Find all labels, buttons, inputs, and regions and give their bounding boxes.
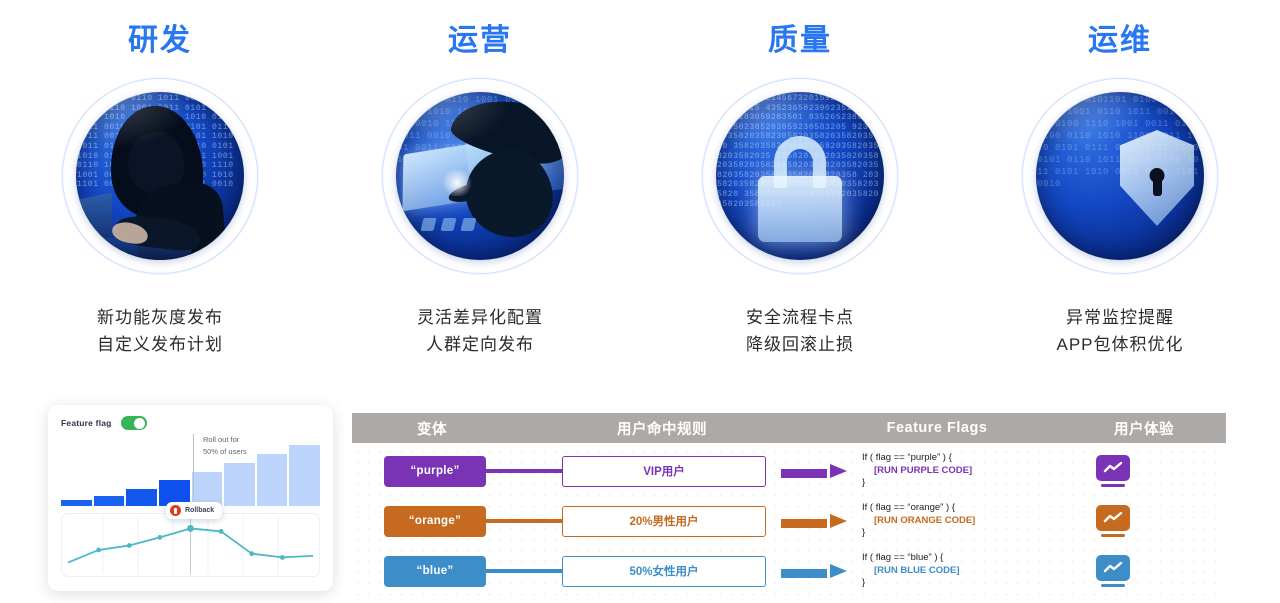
line-point <box>249 551 254 556</box>
line-chart-svg <box>62 514 319 576</box>
variant-chip[interactable]: “purple” <box>384 456 486 487</box>
rollback-icon <box>170 505 181 516</box>
experience-cell <box>1038 455 1188 487</box>
code-line-1: If ( flag == “purple” ) { <box>862 452 1038 465</box>
hand-touching-screen <box>396 92 564 260</box>
flags-table-header: 变体 用户命中规则 Feature Flags 用户体验 <box>352 413 1226 443</box>
feature-title: 运营 <box>448 26 512 56</box>
rollout-bar-chart: Roll out for 50% of users <box>61 434 320 506</box>
caption-line-1: 新功能灰度发布 <box>97 304 223 331</box>
feature-title: 质量 <box>768 26 832 56</box>
monitor-chart-icon <box>1096 455 1130 487</box>
line-point <box>187 525 194 532</box>
caption-line-1: 灵活差异化配置 <box>417 304 543 331</box>
rollout-note-line-2: 50% of users <box>203 446 247 458</box>
feature-column-quality: 质量 3205183502145673201592385612035893201… <box>640 0 960 390</box>
rollout-card: Feature flag Roll out for 50% of users R… <box>48 405 333 591</box>
column-header-experience: 用户体验 <box>1062 418 1226 439</box>
feature-image-devops: 1010110 0101101 01001 10110 0101 1001 01… <box>1022 78 1218 274</box>
feature-flag-label: Feature flag <box>61 418 112 428</box>
feature-image-quality: 32051835021456732015923856120358932015 4… <box>702 78 898 274</box>
rule-box[interactable]: VIP用户 <box>562 456 766 487</box>
rule-box[interactable]: 50%女性用户 <box>562 556 766 587</box>
rollout-bar <box>289 445 320 506</box>
line-point <box>157 535 162 540</box>
shield-shape <box>1120 130 1194 226</box>
code-snippet: If ( flag == “orange” ) {[RUN ORANGE COD… <box>862 502 1038 540</box>
column-header-variant: 变体 <box>352 418 512 439</box>
metric-line-chart: Rollback <box>61 513 320 577</box>
feature-caption: 灵活差异化配置 人群定向发布 <box>417 304 543 358</box>
monitor-chart-icon <box>1096 555 1130 587</box>
flow-arrow <box>766 567 862 576</box>
feature-column-rd: 研发 0101 1001 0110 1011 0010 1101 0100 11… <box>0 0 320 390</box>
line-point <box>96 548 101 553</box>
code-run-line: [RUN ORANGE CODE] <box>862 515 1038 528</box>
variant-chip[interactable]: “blue” <box>384 556 486 587</box>
rollout-bar <box>61 500 92 506</box>
row-connector <box>486 469 562 473</box>
flow-arrow <box>766 467 862 476</box>
flag-row: “purple”VIP用户If ( flag == “purple” ) {[R… <box>352 449 1226 493</box>
rollout-annotation: Roll out for 50% of users <box>193 434 247 500</box>
code-line-3: } <box>862 577 1038 590</box>
caption-line-2: APP包体积优化 <box>1056 331 1183 358</box>
feature-columns: 研发 0101 1001 0110 1011 0010 1101 0100 11… <box>0 0 1280 390</box>
code-line-3: } <box>862 527 1038 540</box>
flow-arrow <box>766 517 862 526</box>
hacker-coding-icon: 0101 1001 0110 1011 0010 1101 0100 1110 … <box>76 92 244 260</box>
bar-series <box>61 442 320 506</box>
feature-column-ops: 运营 100 011 0110 1001 0011 1100 0101 1010… <box>320 0 640 390</box>
caption-line-1: 异常监控提醒 <box>1056 304 1183 331</box>
feature-flag-toggle[interactable] <box>121 416 147 430</box>
code-line-3: } <box>862 477 1038 490</box>
line-point <box>219 529 224 534</box>
rollback-label: Rollback <box>185 507 214 514</box>
padlock-icon: 32051835021456732015923856120358932015 4… <box>716 92 884 260</box>
caption-line-2: 人群定向发布 <box>417 331 543 358</box>
caption-line-2: 降级回滚止损 <box>746 331 854 358</box>
rollout-bar <box>126 489 157 506</box>
code-line-1: If ( flag == “orange” ) { <box>862 502 1038 515</box>
code-line-1: If ( flag == “blue” ) { <box>862 552 1038 565</box>
feature-title: 运维 <box>1088 26 1152 56</box>
rule-box[interactable]: 20%男性用户 <box>562 506 766 537</box>
column-header-rule: 用户命中规则 <box>512 418 812 439</box>
code-run-line: [RUN PURPLE CODE] <box>862 465 1038 478</box>
flag-row: “blue”50%女性用户If ( flag == “blue” ) {[RUN… <box>352 549 1226 593</box>
row-connector <box>486 519 562 523</box>
feature-flags-diagram: 变体 用户命中规则 Feature Flags 用户体验 “purple”VIP… <box>352 413 1226 603</box>
page-root: 研发 0101 1001 0110 1011 0010 1101 0100 11… <box>0 0 1280 603</box>
experience-cell <box>1038 555 1188 587</box>
hand-touch-screen-icon: 100 011 0110 1001 0011 1100 0101 1010 10… <box>396 92 564 260</box>
shield-keyhole-icon: 1010110 0101101 01001 10110 0101 1001 01… <box>1036 92 1204 260</box>
feature-title: 研发 <box>128 26 192 56</box>
line-point <box>127 543 132 548</box>
rollout-bar <box>257 454 288 506</box>
column-header-feature-flags: Feature Flags <box>812 420 1062 436</box>
row-connector <box>486 569 562 573</box>
caption-line-2: 自定义发布计划 <box>97 331 223 358</box>
experience-cell <box>1038 505 1188 537</box>
feature-image-rd: 0101 1001 0110 1011 0010 1101 0100 1110 … <box>62 78 258 274</box>
code-snippet: If ( flag == “purple” ) {[RUN PURPLE COD… <box>862 452 1038 490</box>
feature-column-devops: 运维 1010110 0101101 01001 10110 0101 1001… <box>960 0 1280 390</box>
hacker-silhouette <box>76 92 244 260</box>
rollout-note-line-1: Roll out for <box>203 434 247 446</box>
code-snippet: If ( flag == “blue” ) {[RUN BLUE CODE]} <box>862 552 1038 590</box>
monitor-chart-icon <box>1096 505 1130 537</box>
feature-caption: 新功能灰度发布 自定义发布计划 <box>97 304 223 358</box>
variant-chip[interactable]: “orange” <box>384 506 486 537</box>
caption-line-1: 安全流程卡点 <box>746 304 854 331</box>
feature-caption: 安全流程卡点 降级回滚止损 <box>746 304 854 358</box>
flag-row: “orange”20%男性用户If ( flag == “orange” ) {… <box>352 499 1226 543</box>
rollout-bar <box>94 496 125 506</box>
line-point <box>280 555 285 560</box>
feature-caption: 异常监控提醒 APP包体积优化 <box>1056 304 1183 358</box>
flags-table-body: “purple”VIP用户If ( flag == “purple” ) {[R… <box>352 449 1226 593</box>
code-run-line: [RUN BLUE CODE] <box>862 565 1038 578</box>
feature-image-ops: 100 011 0110 1001 0011 1100 0101 1010 10… <box>382 78 578 274</box>
toggle-knob <box>134 418 145 429</box>
rollback-tooltip[interactable]: Rollback <box>166 502 222 519</box>
feature-flag-toggle-row: Feature flag <box>61 416 320 430</box>
